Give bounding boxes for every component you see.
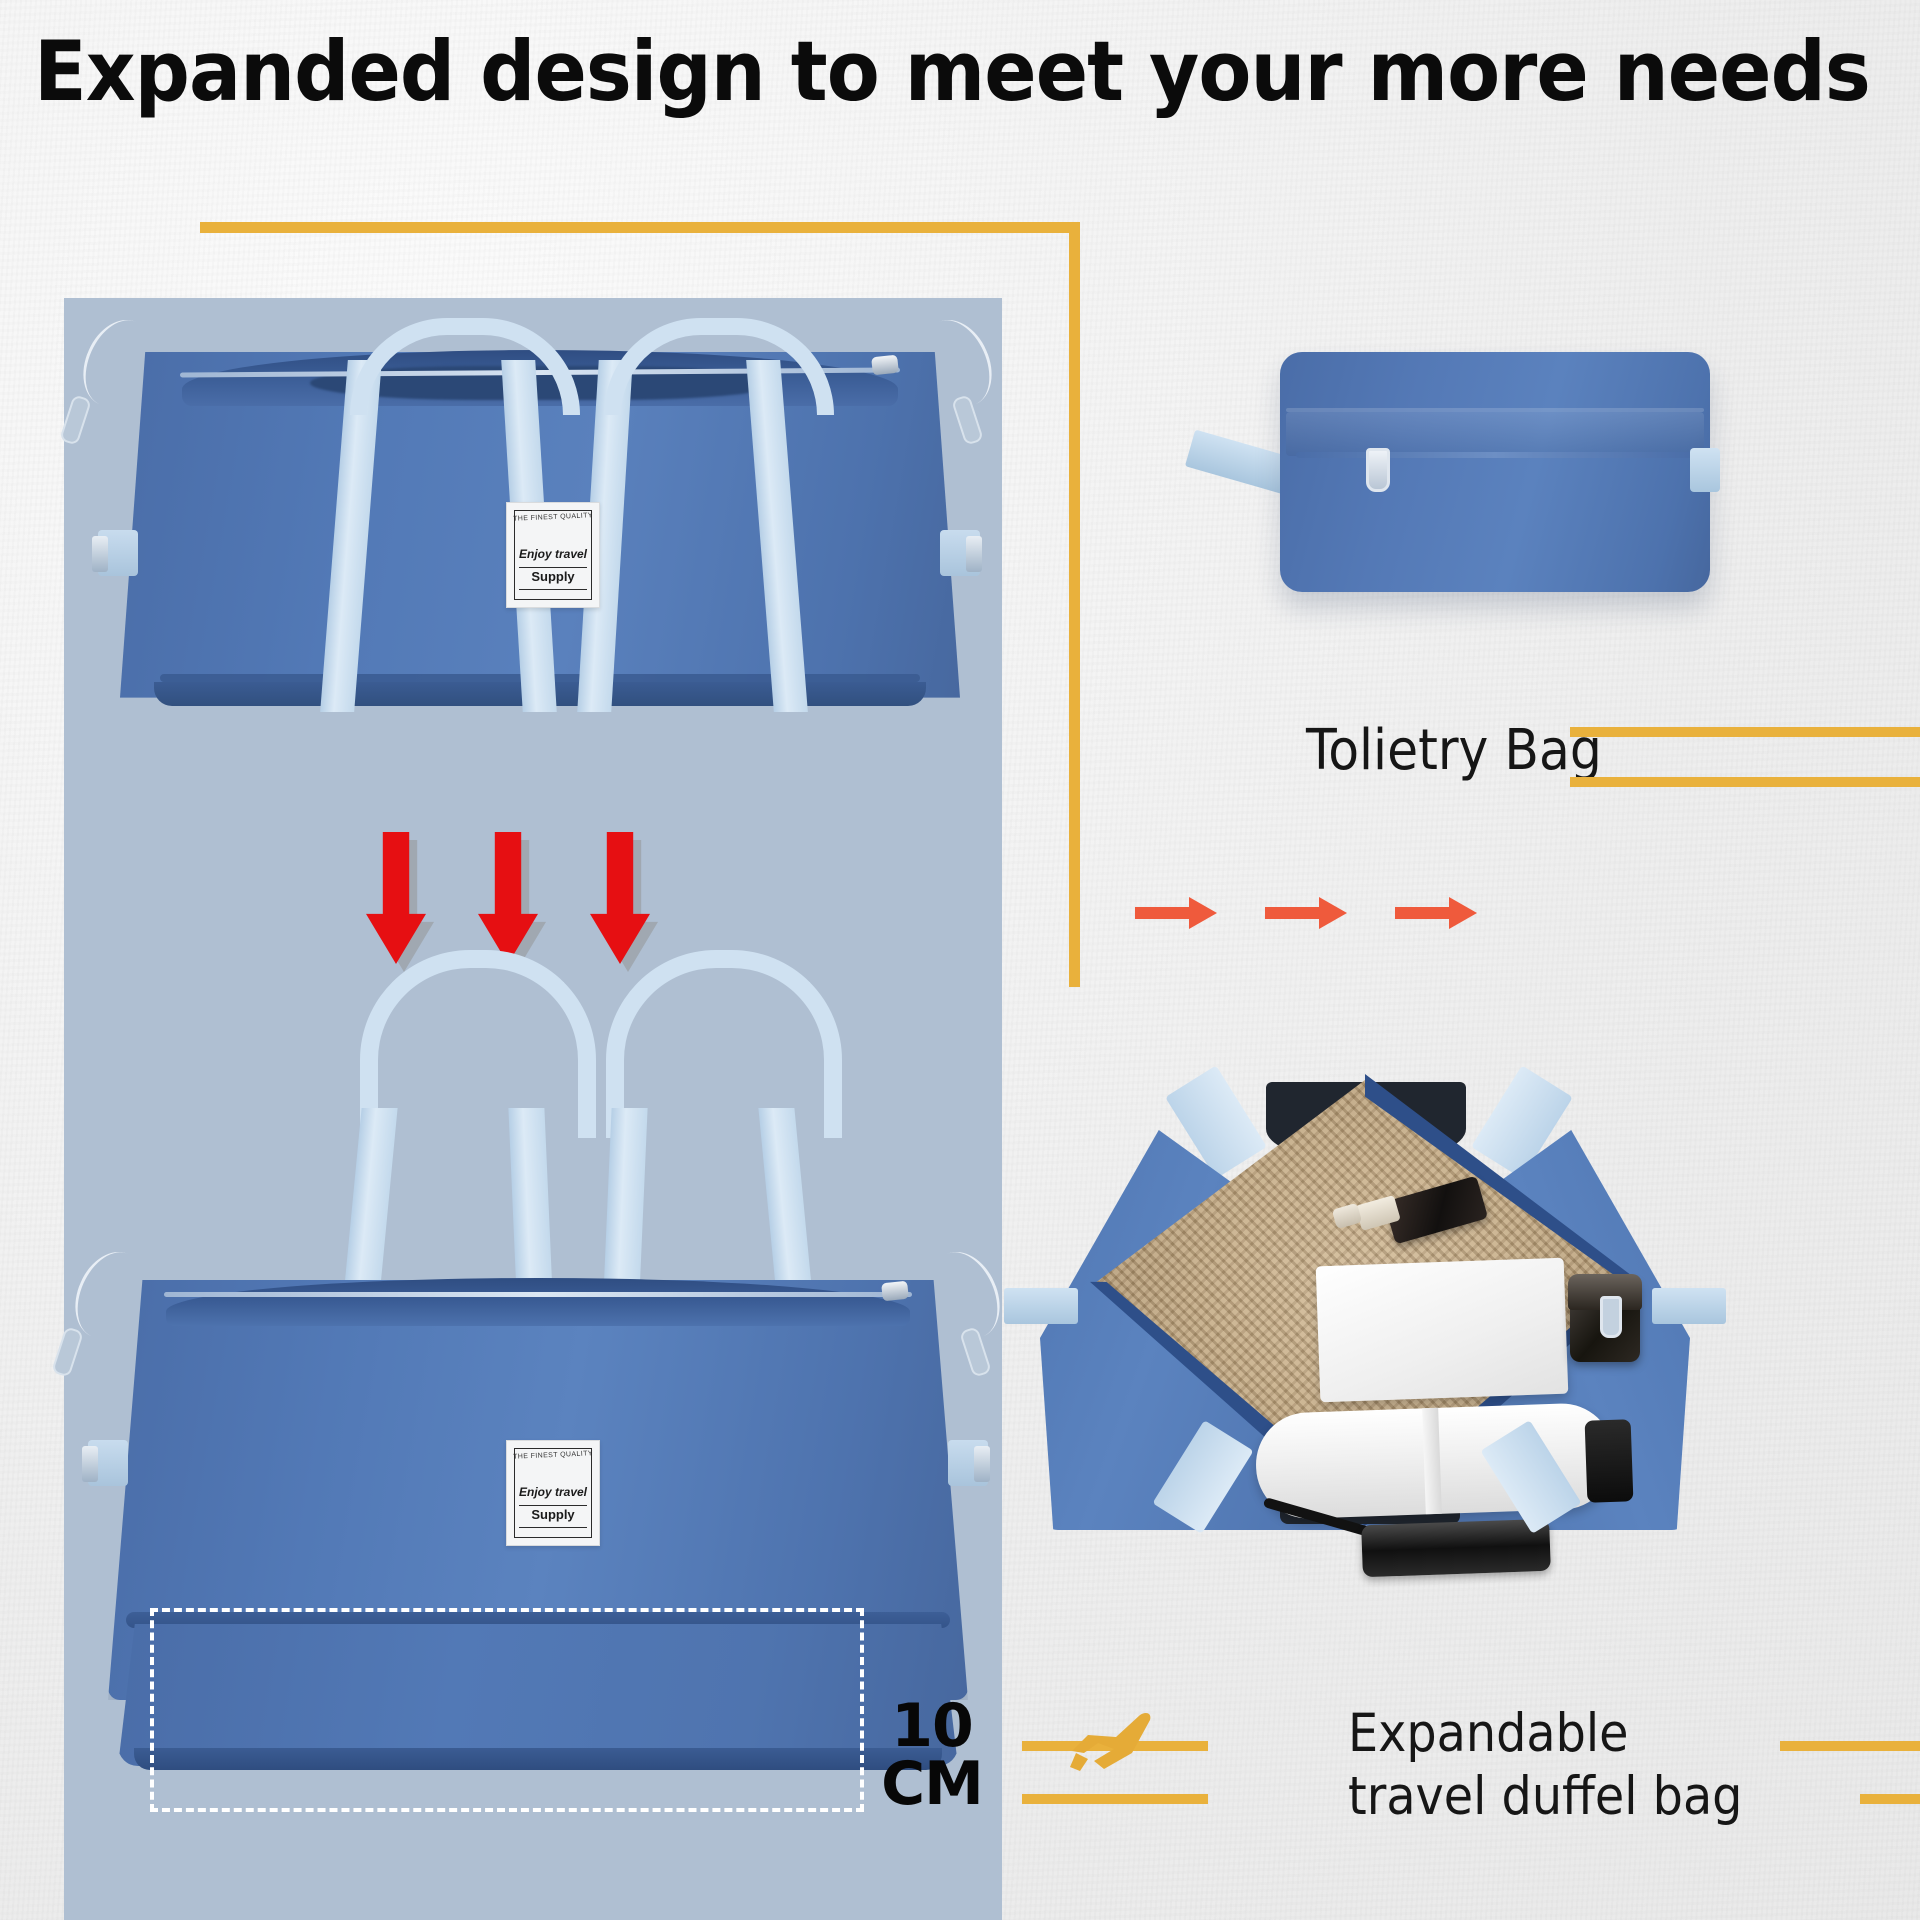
gold-bracket-horizontal <box>200 222 1080 233</box>
page-title: Expanded design to meet your more needs <box>34 28 1764 115</box>
gold-bracket-vertical <box>1069 222 1080 987</box>
left-product-panel <box>64 298 1002 1920</box>
